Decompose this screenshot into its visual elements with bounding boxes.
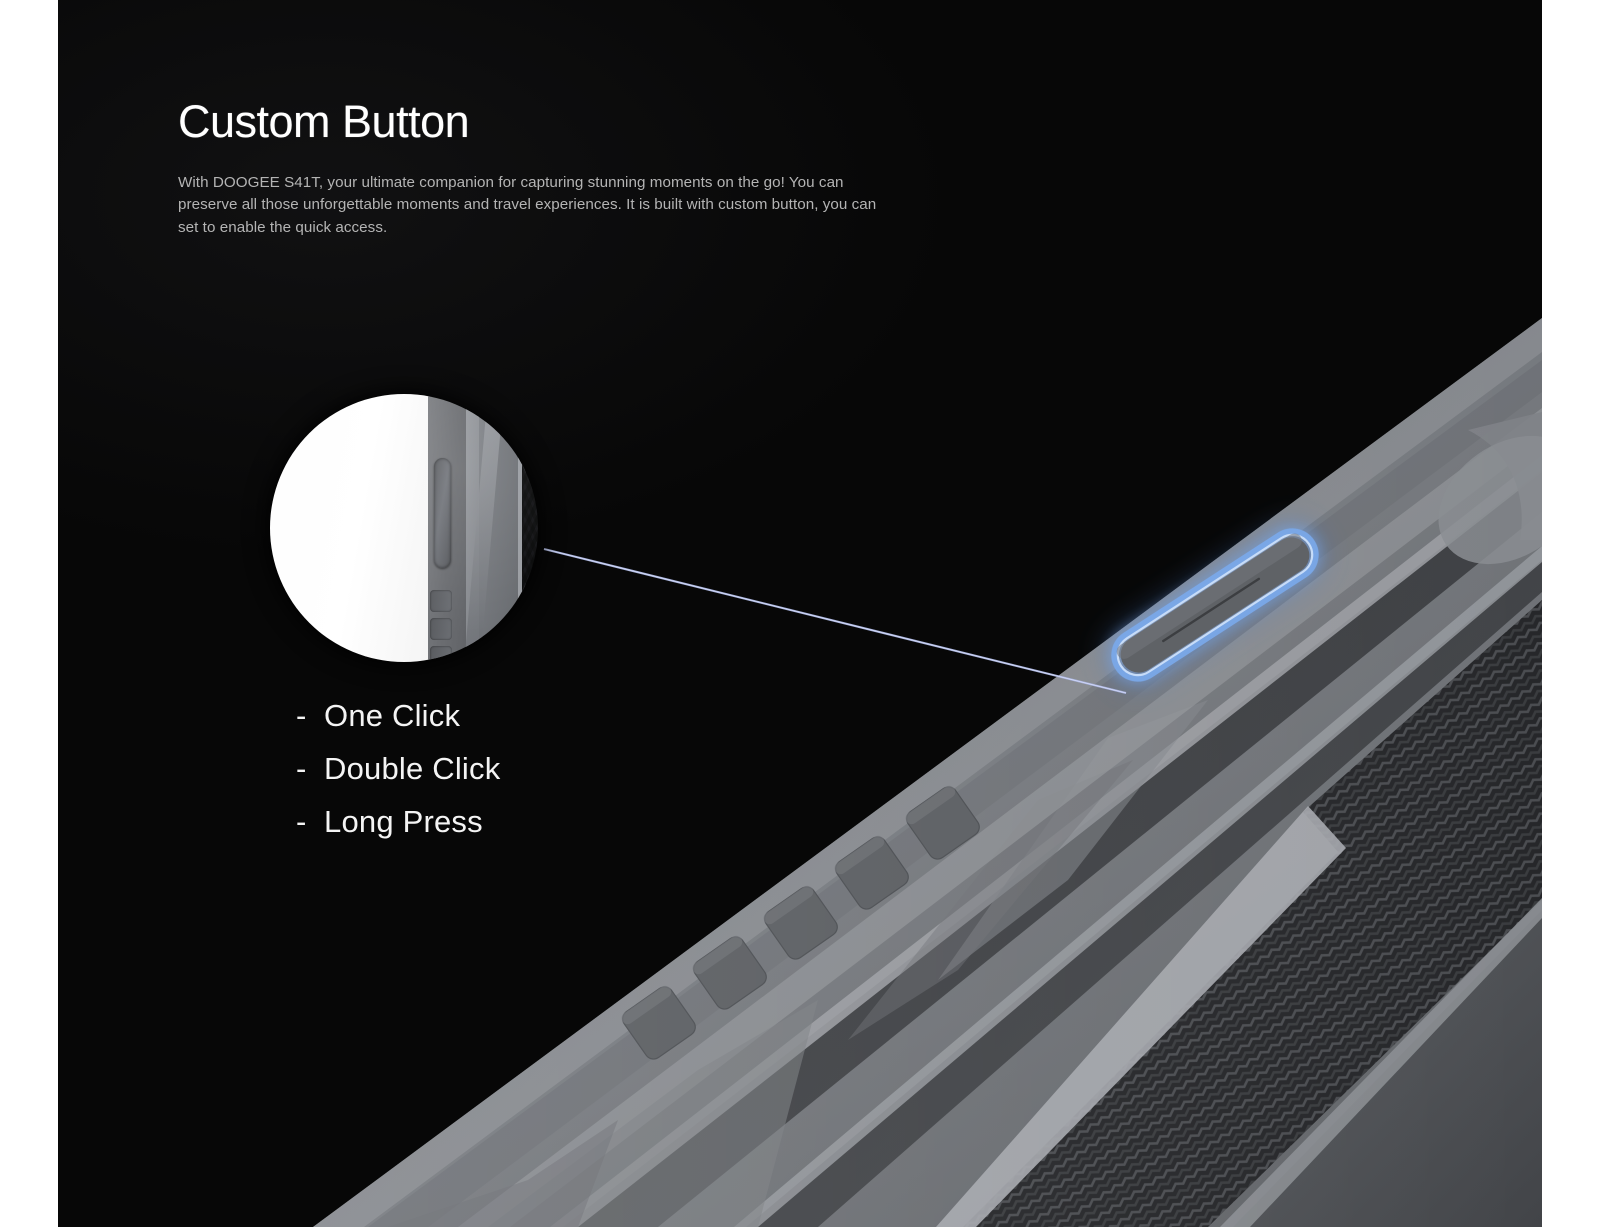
list-item: - One Click	[296, 698, 500, 751]
lens-custom-button	[434, 458, 451, 568]
bullet-dash-icon: -	[296, 806, 310, 837]
feature-list: - One Click - Double Click - Long Press	[296, 698, 500, 857]
lens-phone-screen	[270, 394, 430, 662]
list-item-label: Double Click	[324, 751, 500, 787]
list-item: - Long Press	[296, 804, 500, 857]
list-item: - Double Click	[296, 751, 500, 804]
bullet-dash-icon: -	[296, 700, 310, 731]
lens-grip-nub	[430, 646, 452, 662]
screenshot-root: Custom Button With DOOGEE S41T, your ult…	[0, 0, 1600, 1227]
magnifier-callout[interactable]	[270, 394, 538, 662]
body-paragraph: With DOOGEE S41T, your ultimate companio…	[178, 172, 893, 240]
list-item-label: Long Press	[324, 804, 483, 840]
list-item-label: One Click	[324, 698, 460, 734]
lens-grip-nub	[430, 590, 452, 612]
intro-text-block: Custom Button With DOOGEE S41T, your ult…	[178, 98, 918, 239]
page-title: Custom Button	[178, 98, 918, 146]
magnifier-contents	[270, 394, 538, 662]
content-canvas: Custom Button With DOOGEE S41T, your ult…	[58, 0, 1542, 1227]
lens-grip-nub	[430, 618, 452, 640]
bullet-dash-icon: -	[296, 753, 310, 784]
lens-carbon-fiber	[522, 394, 538, 662]
